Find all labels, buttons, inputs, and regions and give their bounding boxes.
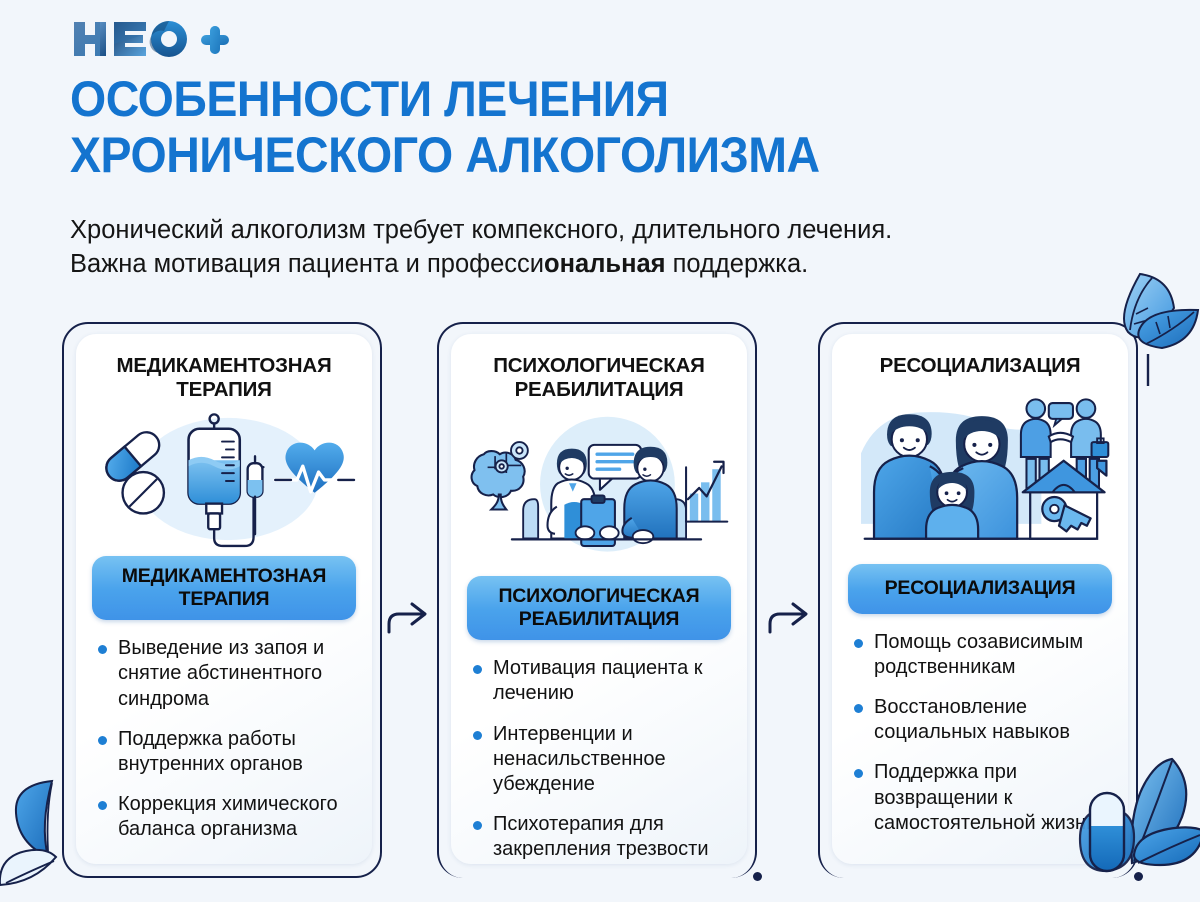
connector-arrow-1 <box>387 590 431 636</box>
bullet-dot-icon <box>473 821 482 830</box>
card-pill-label[interactable]: МЕДИКАМЕНТОЗНАЯ ТЕРАПИЯ <box>92 556 356 620</box>
page-subtitle-line1: Хронический алкоголизм требует компексно… <box>70 213 1120 247</box>
bullet-text: Поддержка при возвращении к самостоятель… <box>874 760 1110 836</box>
bullet-text: Выведение из запоя и снятие абстинентног… <box>118 636 354 712</box>
card-panel: ПСИХОЛОГИЧЕСКАЯ РЕАБИЛИТАЦИЯ <box>451 334 747 864</box>
list-item: Поддержка работы внутренних органов <box>98 727 354 777</box>
cards-container: МЕДИКАМЕНТОЗНАЯ ТЕРАПИЯ <box>0 322 1200 882</box>
card-panel: МЕДИКАМЕНТОЗНАЯ ТЕРАПИЯ <box>76 334 372 864</box>
card-heading: ПСИХОЛОГИЧЕСКАЯ РЕАБИЛИТАЦИЯ <box>467 354 731 404</box>
bullet-dot-icon <box>473 731 482 740</box>
card-heading: МЕДИКАМЕНТОЗНАЯ ТЕРАПИЯ <box>92 354 356 404</box>
subtitle-text-bold: ональная <box>544 250 666 278</box>
list-item: Помощь созависимым родственникам <box>854 630 1110 680</box>
subtitle-text-a: Важна мотивация пациента и професси <box>70 250 544 278</box>
card-bullet-list: Выведение из запоя и снятие абстинентног… <box>92 636 356 857</box>
page-subtitle-line2: Важна мотивация пациента и профессиональ… <box>70 247 1120 281</box>
list-item: Мотивация пациента к лечению <box>473 656 729 706</box>
card-medication-therapy[interactable]: МЕДИКАМЕНТОЗНАЯ ТЕРАПИЯ <box>62 322 382 878</box>
bullet-text: Интервенции и ненасильственное убеждение <box>493 722 729 798</box>
subtitle-text-c: поддержка. <box>666 250 809 278</box>
list-item: Поддержка при возвращении к самостоятель… <box>854 760 1110 836</box>
bullet-text: Психотерапия для закрепления трезвости <box>493 812 729 862</box>
page-title: ОСОБЕННОСТИ ЛЕЧЕНИЯ ХРОНИЧЕСКОГО АЛКОГОЛ… <box>70 72 1065 183</box>
list-item: Коррекция химического баланса организма <box>98 792 354 842</box>
brand-logo <box>70 18 230 60</box>
page-title-line1: ОСОБЕННОСТИ ЛЕЧЕНИЯ <box>70 72 1065 128</box>
bullet-text: Мотивация пациента к лечению <box>493 656 729 706</box>
card-bullet-list: Помощь созависимым родственникам Восстан… <box>848 630 1112 851</box>
card-bullet-list: Мотивация пациента к лечению Интервенции… <box>467 656 731 877</box>
bullet-dot-icon <box>854 639 863 648</box>
bullet-dot-icon <box>854 704 863 713</box>
card-psychological-rehabilitation[interactable]: ПСИХОЛОГИЧЕСКАЯ РЕАБИЛИТАЦИЯ <box>437 322 757 878</box>
list-item: Выведение из запоя и снятие абстинентног… <box>98 636 354 712</box>
page-subtitle: Хронический алкоголизм требует компексно… <box>70 213 1120 282</box>
card-illustration-family-handshake-house-key <box>848 382 1112 558</box>
list-item: Восстановление социальных навыков <box>854 695 1110 745</box>
bullet-text: Поддержка работы внутренних органов <box>118 727 354 777</box>
card-illustration-therapy-session-brain-chart <box>467 404 731 570</box>
card-illustration-iv-drip-pills-heart <box>92 408 356 550</box>
card-panel: РЕСОЦИАЛИЗАЦИЯ <box>832 334 1128 864</box>
bullet-dot-icon <box>854 769 863 778</box>
card-pill-label[interactable]: ПСИХОЛОГИЧЕСКАЯ РЕАБИЛИТАЦИЯ <box>467 576 731 640</box>
bullet-text: Коррекция химического баланса организма <box>118 792 354 842</box>
bullet-text: Восстановление социальных навыков <box>874 695 1110 745</box>
card-resocialization[interactable]: РЕСОЦИАЛИЗАЦИЯ <box>818 322 1138 878</box>
list-item: Психотерапия для закрепления трезвости <box>473 812 729 862</box>
bullet-text: Помощь созависимым родственникам <box>874 630 1110 680</box>
page-title-line2: ХРОНИЧЕСКОГО АЛКОГОЛИЗМА <box>70 128 1065 184</box>
bullet-dot-icon <box>98 801 107 810</box>
bullet-dot-icon <box>98 645 107 654</box>
bullet-dot-icon <box>473 665 482 674</box>
card-heading: РЕСОЦИАЛИЗАЦИЯ <box>848 354 1112 380</box>
bullet-dot-icon <box>98 736 107 745</box>
list-item: Интервенции и ненасильственное убеждение <box>473 722 729 798</box>
arrow-right-icon <box>387 590 431 636</box>
arrow-right-icon <box>768 590 812 636</box>
connector-arrow-2 <box>768 590 812 636</box>
card-pill-label[interactable]: РЕСОЦИАЛИЗАЦИЯ <box>848 564 1112 614</box>
logo-neo-plus-icon <box>70 18 230 60</box>
